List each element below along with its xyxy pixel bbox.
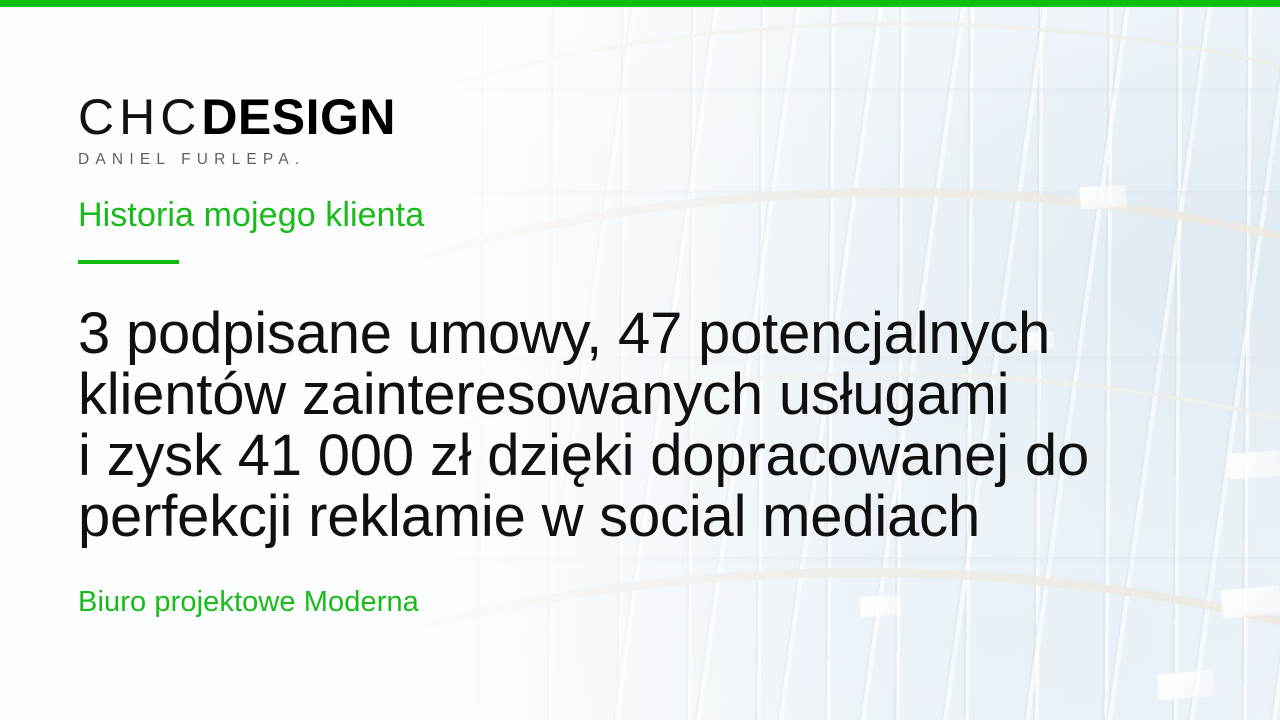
headline-line-2: klientów zainteresowanych usługami [78, 364, 1168, 425]
headline-line-3: i zysk 41 000 zł dzięki dopracowanej do [78, 425, 1168, 486]
client-name-label: Biuro projektowe Moderna [78, 586, 419, 619]
top-accent-bar [0, 0, 1280, 7]
brand-logo-name: CHCDESIGN [78, 92, 396, 142]
facade-glass-pane [1227, 450, 1280, 480]
headline: 3 podpisane umowy, 47 potencjalnych klie… [78, 303, 1168, 547]
headline-line-1: 3 podpisane umowy, 47 potencjalnych [78, 303, 1168, 364]
brand-logo: CHCDESIGN DANIEL FURLEPA. [78, 92, 396, 169]
facade-glass-pane [1221, 586, 1280, 619]
green-divider-rule [78, 260, 179, 264]
brand-logo-tagline: DANIEL FURLEPA. [78, 151, 396, 169]
brand-logo-word-bold: DESIGN [201, 89, 396, 145]
headline-line-4: perfekcji reklamie w social mediach [78, 486, 1168, 547]
section-eyebrow-label: Historia mojego klienta [78, 196, 424, 235]
slide-canvas: CHCDESIGN DANIEL FURLEPA. Historia mojeg… [0, 0, 1280, 720]
brand-logo-word-light: CHC [78, 89, 201, 145]
slide-content: CHCDESIGN DANIEL FURLEPA. Historia mojeg… [78, 0, 1208, 720]
